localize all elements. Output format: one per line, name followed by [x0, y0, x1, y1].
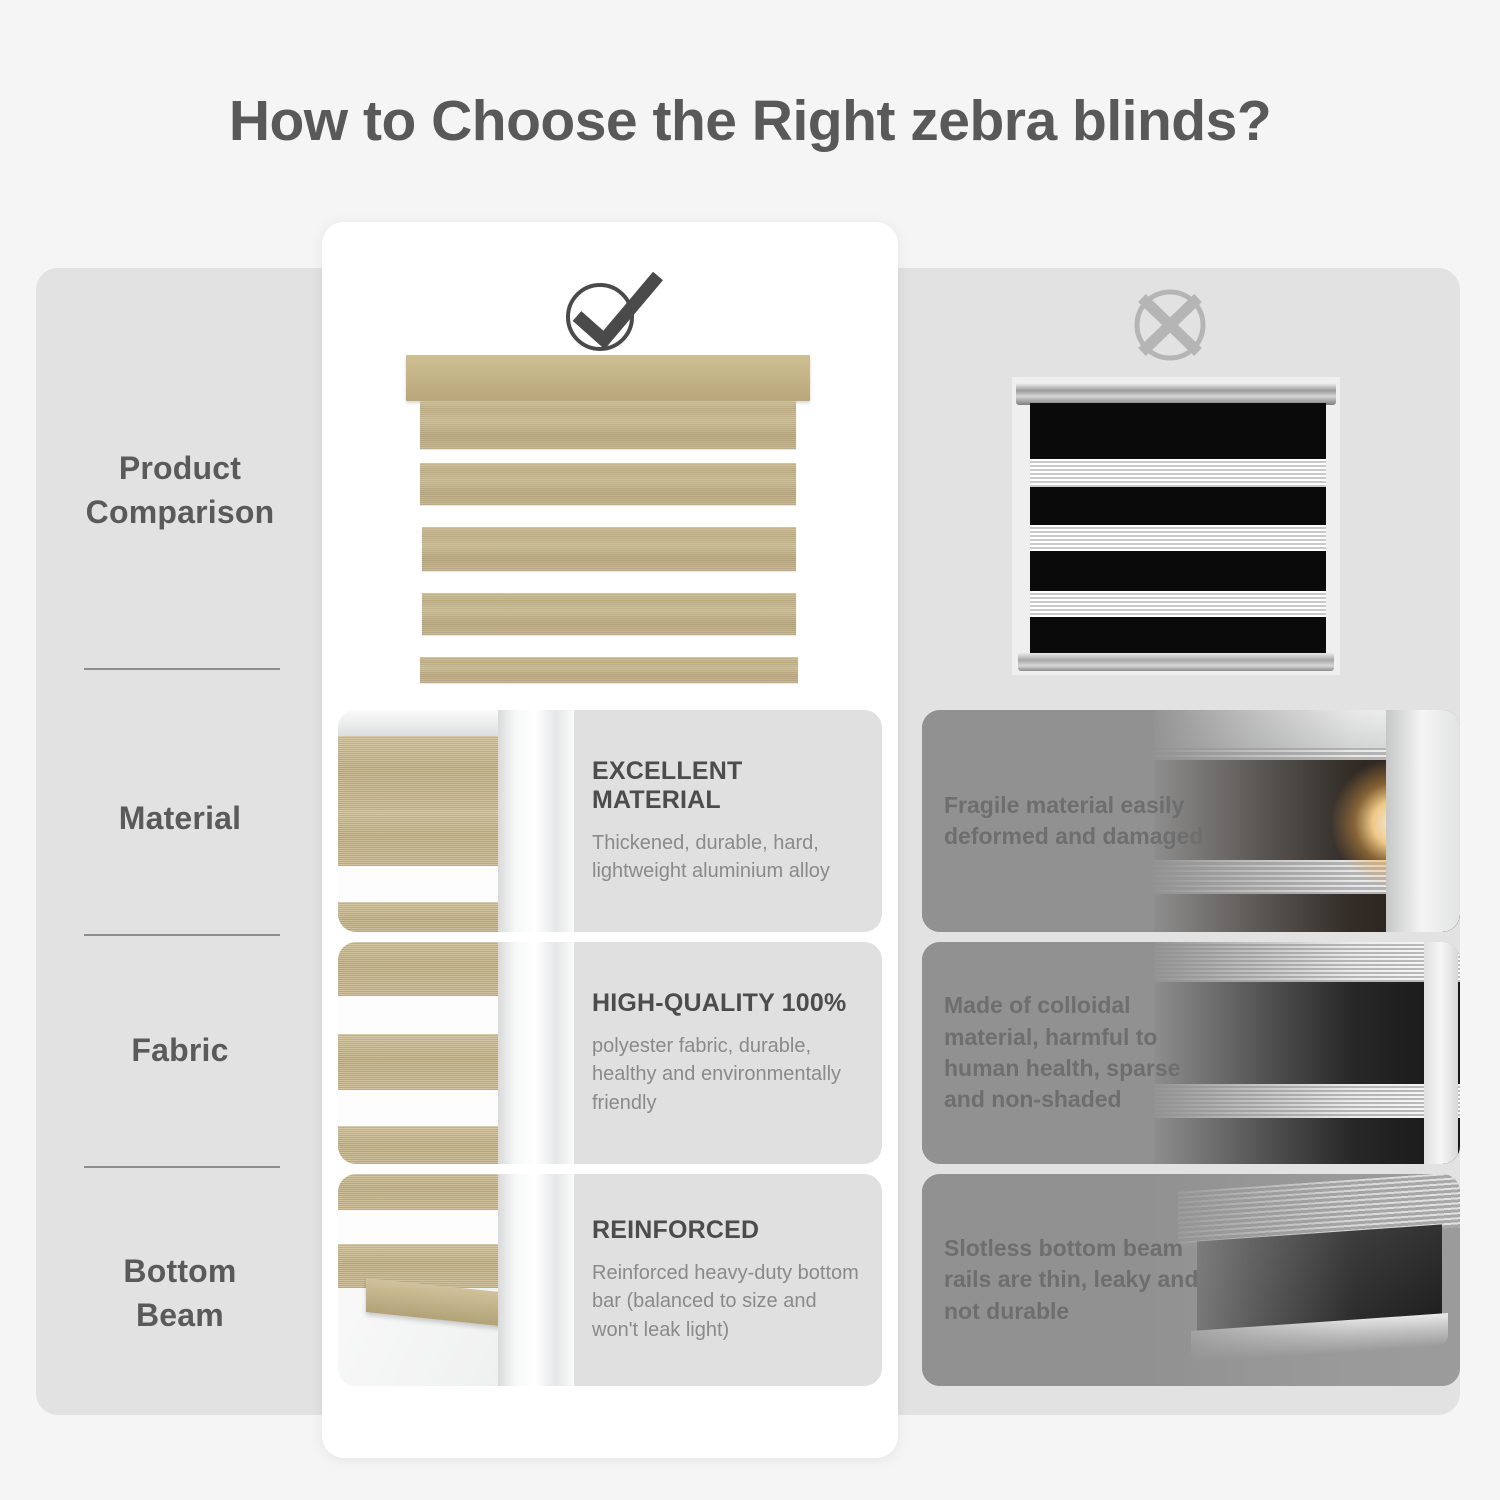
good-card-bottom-beam-heading: REINFORCED: [592, 1216, 864, 1245]
sidebar-row-material: Material: [46, 788, 314, 848]
black-sheer-3: [1030, 591, 1326, 617]
window-frame-side: [498, 710, 574, 932]
sidebar-row-bottom-beam: BottomBeam: [46, 1228, 314, 1358]
good-card-material-text: EXCELLENT MATERIAL Thickened, durable, h…: [592, 710, 864, 932]
good-card-fabric-photo: [338, 942, 574, 1164]
black-headrail: [1016, 383, 1336, 405]
bad-card-fabric: Made of colloidal material, harmful to h…: [922, 942, 1460, 1164]
beige-slat-3: [422, 527, 796, 571]
beige-slat-1: [420, 401, 796, 449]
black-sheer-1: [1030, 459, 1326, 487]
beige-slat-2: [420, 463, 796, 505]
bad-card-fabric-text: Made of colloidal material, harmful to h…: [944, 942, 1224, 1164]
hero-image-black-zebra-blind: [1012, 377, 1340, 675]
beige-bottom-bar: [420, 657, 798, 683]
bad-card-material: Fragile material easily deformed and dam…: [922, 710, 1460, 932]
sidebar-row-fabric: Fabric: [46, 1020, 314, 1080]
category-sidebar: ProductComparison Material Fabric Bottom…: [46, 268, 314, 1415]
sidebar-divider-3: [84, 1166, 280, 1168]
bad-card-bottom-beam-body: Slotless bottom beam rails are thin, lea…: [944, 1233, 1224, 1327]
x-circle-icon: [1118, 282, 1222, 368]
page-title: How to Choose the Right zebra blinds?: [0, 88, 1500, 154]
bad-card-material-body: Fragile material easily deformed and dam…: [944, 790, 1224, 853]
window-frame-side: [498, 942, 574, 1164]
beige-headrail: [406, 355, 810, 401]
good-card-fabric: HIGH-QUALITY 100% polyester fabric, dura…: [338, 942, 882, 1164]
sidebar-divider-2: [84, 934, 280, 936]
good-card-material-heading: EXCELLENT MATERIAL: [592, 757, 864, 815]
good-card-material-body: Thickened, durable, hard, lightweight al…: [592, 829, 864, 886]
good-card-fabric-heading: HIGH-QUALITY 100%: [592, 989, 864, 1018]
sidebar-label-material: Material: [119, 796, 242, 840]
bad-card-bottom-beam-text: Slotless bottom beam rails are thin, lea…: [944, 1174, 1224, 1386]
infographic-root: How to Choose the Right zebra blinds? Pr…: [0, 0, 1500, 1500]
good-card-bottom-beam-body: Reinforced heavy-duty bottom bar (balanc…: [592, 1259, 864, 1344]
check-circle-icon: [552, 268, 672, 360]
beige-slat-4: [422, 593, 796, 635]
window-frame-side: [498, 1174, 574, 1386]
good-card-bottom-beam-photo: [338, 1174, 574, 1386]
black-sheer-2: [1030, 525, 1326, 551]
sidebar-row-product-comparison: ProductComparison: [46, 420, 314, 560]
good-card-bottom-beam-text: REINFORCED Reinforced heavy-duty bottom …: [592, 1174, 864, 1386]
black-bottom-rail: [1018, 653, 1334, 671]
good-card-fabric-text: HIGH-QUALITY 100% polyester fabric, dura…: [592, 942, 864, 1164]
sidebar-label-bottom-beam: BottomBeam: [123, 1249, 236, 1337]
good-card-material: EXCELLENT MATERIAL Thickened, durable, h…: [338, 710, 882, 932]
black-blind-body: [1030, 403, 1326, 653]
good-card-material-photo: [338, 710, 574, 932]
sidebar-label-product-comparison: ProductComparison: [86, 446, 275, 534]
good-card-fabric-body: polyester fabric, durable, healthy and e…: [592, 1032, 864, 1117]
bad-card-fabric-body: Made of colloidal material, harmful to h…: [944, 990, 1224, 1115]
sidebar-divider-1: [84, 668, 280, 670]
hero-image-beige-zebra-blind: [406, 355, 810, 695]
good-card-bottom-beam: REINFORCED Reinforced heavy-duty bottom …: [338, 1174, 882, 1386]
sidebar-label-fabric: Fabric: [131, 1028, 228, 1072]
bad-card-bottom-beam: Slotless bottom beam rails are thin, lea…: [922, 1174, 1460, 1386]
bad-card-material-text: Fragile material easily deformed and dam…: [944, 710, 1224, 932]
